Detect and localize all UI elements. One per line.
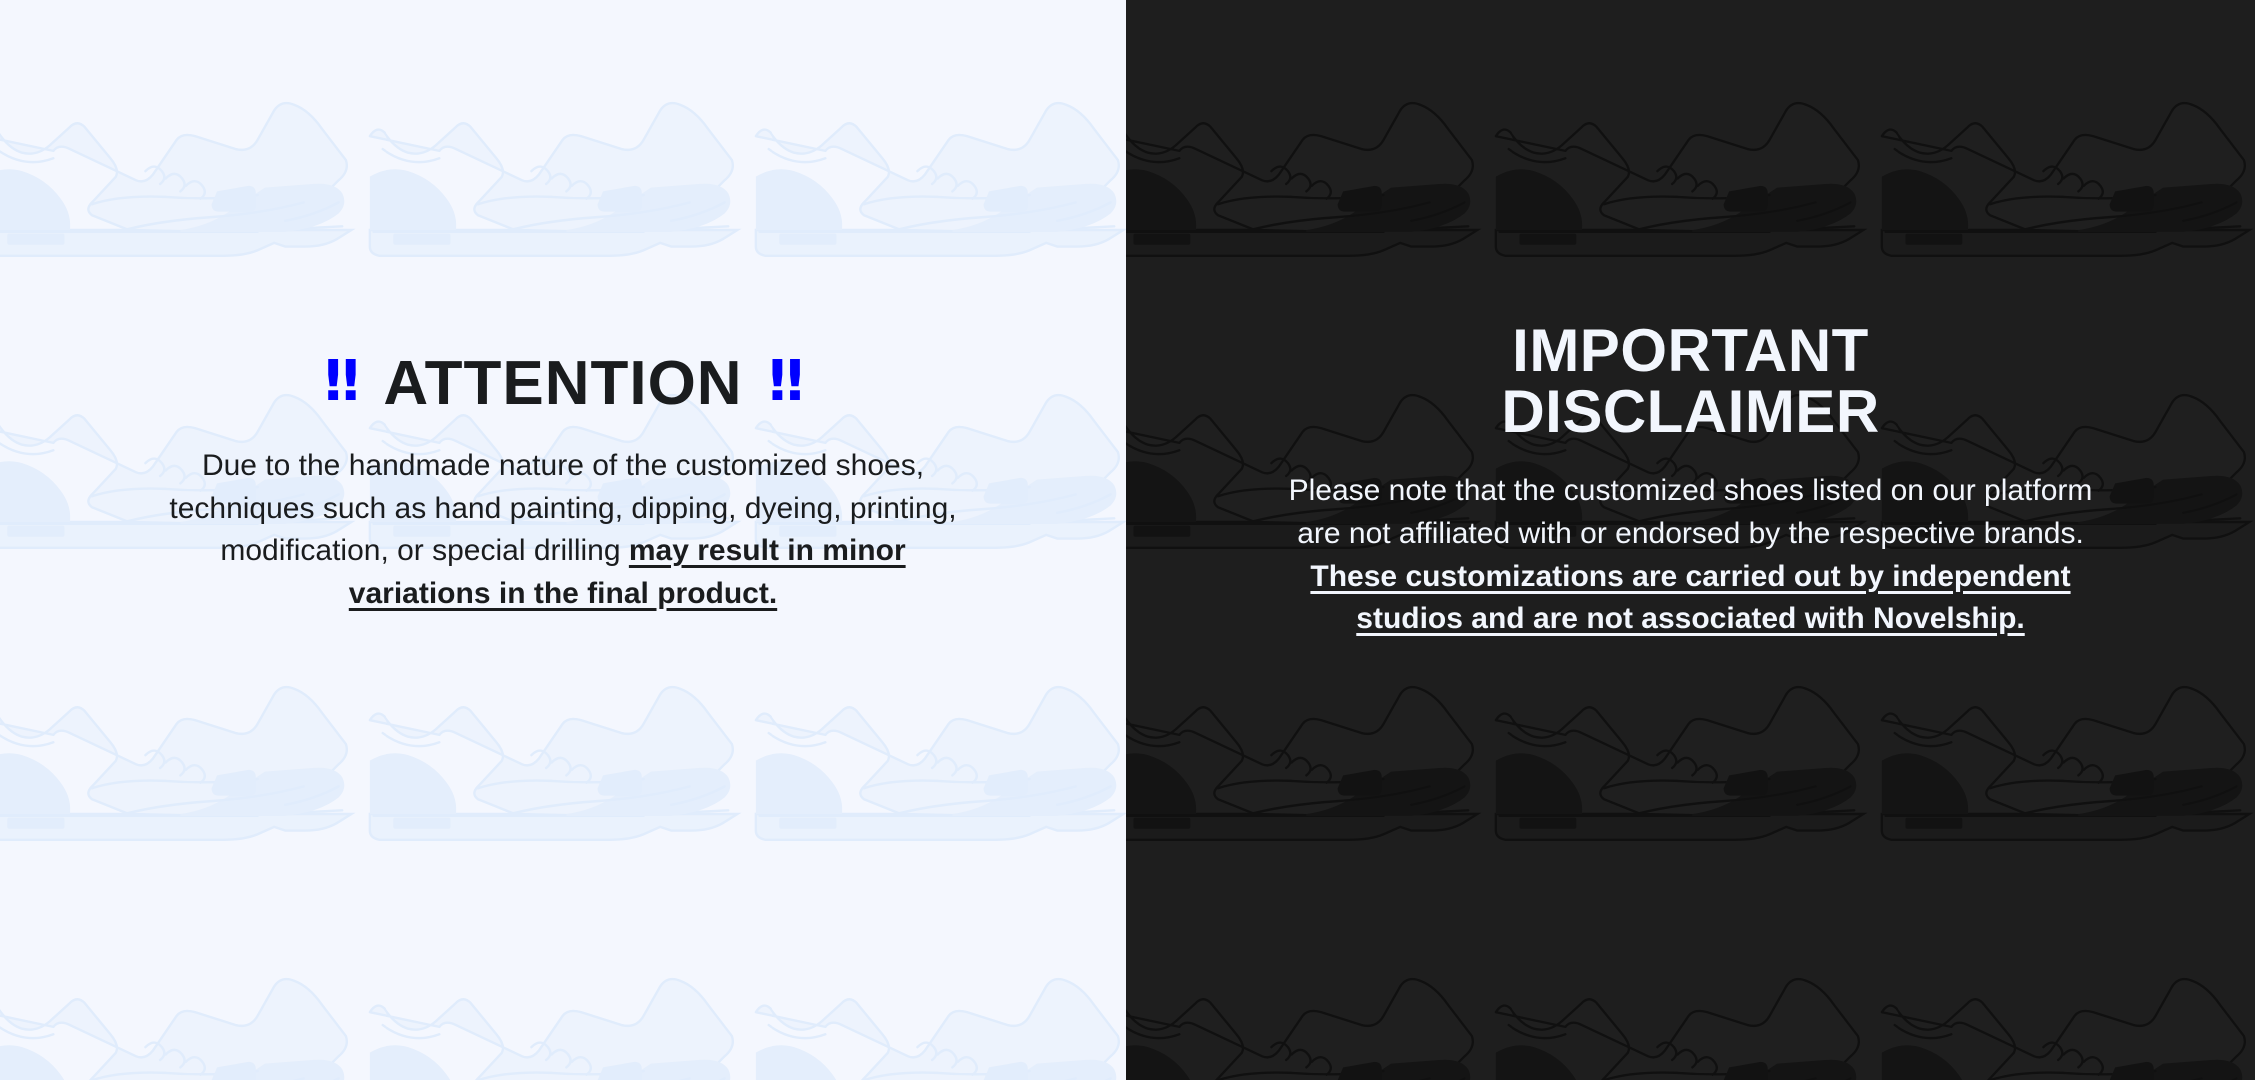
disclaimer-body-emphasis: These customizations are carried out by … — [1310, 560, 2070, 636]
disclaimer-headline: IMPORTANT DISCLAIMER — [1501, 320, 1879, 442]
banner-stage: ‼ ATTENTION ‼ Due to the handmade nature… — [0, 0, 2255, 1080]
attention-headline: ‼ ATTENTION ‼ — [324, 352, 801, 415]
disclaimer-body-plain: Please note that the customized shoes li… — [1289, 474, 2093, 550]
disclaimer-headline-line-1: IMPORTANT — [1512, 317, 1869, 384]
disclaimer-panel: IMPORTANT DISCLAIMER Please note that th… — [1126, 0, 2255, 1080]
attention-content: ‼ ATTENTION ‼ Due to the handmade nature… — [0, 0, 1126, 1080]
attention-panel: ‼ ATTENTION ‼ Due to the handmade nature… — [0, 0, 1126, 1080]
attention-headline-text: ATTENTION — [383, 352, 742, 415]
disclaimer-body: Please note that the customized shoes li… — [1281, 470, 2101, 640]
double-exclamation-right-icon: ‼ — [769, 354, 802, 410]
disclaimer-headline-line-2: DISCLAIMER — [1501, 378, 1879, 445]
attention-body: Due to the handmade nature of the custom… — [163, 445, 963, 615]
disclaimer-content: IMPORTANT DISCLAIMER Please note that th… — [1126, 0, 2255, 1080]
double-exclamation-left-icon: ‼ — [324, 354, 357, 410]
